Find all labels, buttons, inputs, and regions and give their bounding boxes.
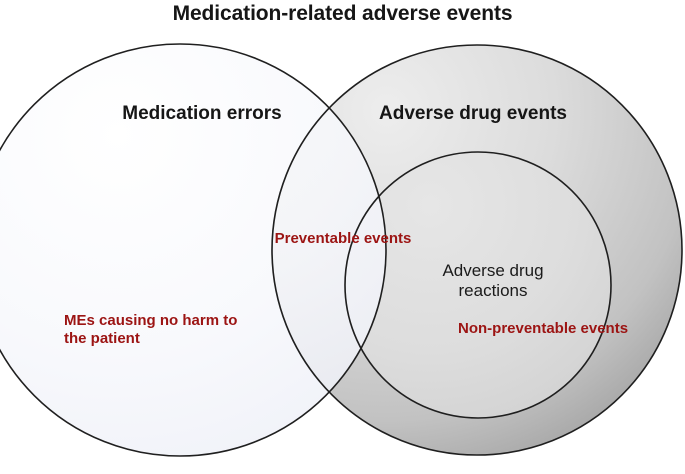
- set-label-adverse-drug-events: Adverse drug events: [363, 103, 583, 125]
- diagram-canvas: Medication-related adverse events Medica…: [0, 0, 685, 474]
- page-title: Medication-related adverse events: [0, 2, 685, 27]
- region-label-non-preventable-events: Non-preventable events: [458, 320, 668, 338]
- region-label-mes-causing-no-harm: MEs causing no harm to the patient: [64, 312, 279, 347]
- set-label-adverse-drug-reactions: Adverse drug reactions: [398, 261, 588, 301]
- set-label-medication-errors: Medication errors: [62, 103, 342, 125]
- region-label-preventable-events: Preventable events: [243, 230, 443, 248]
